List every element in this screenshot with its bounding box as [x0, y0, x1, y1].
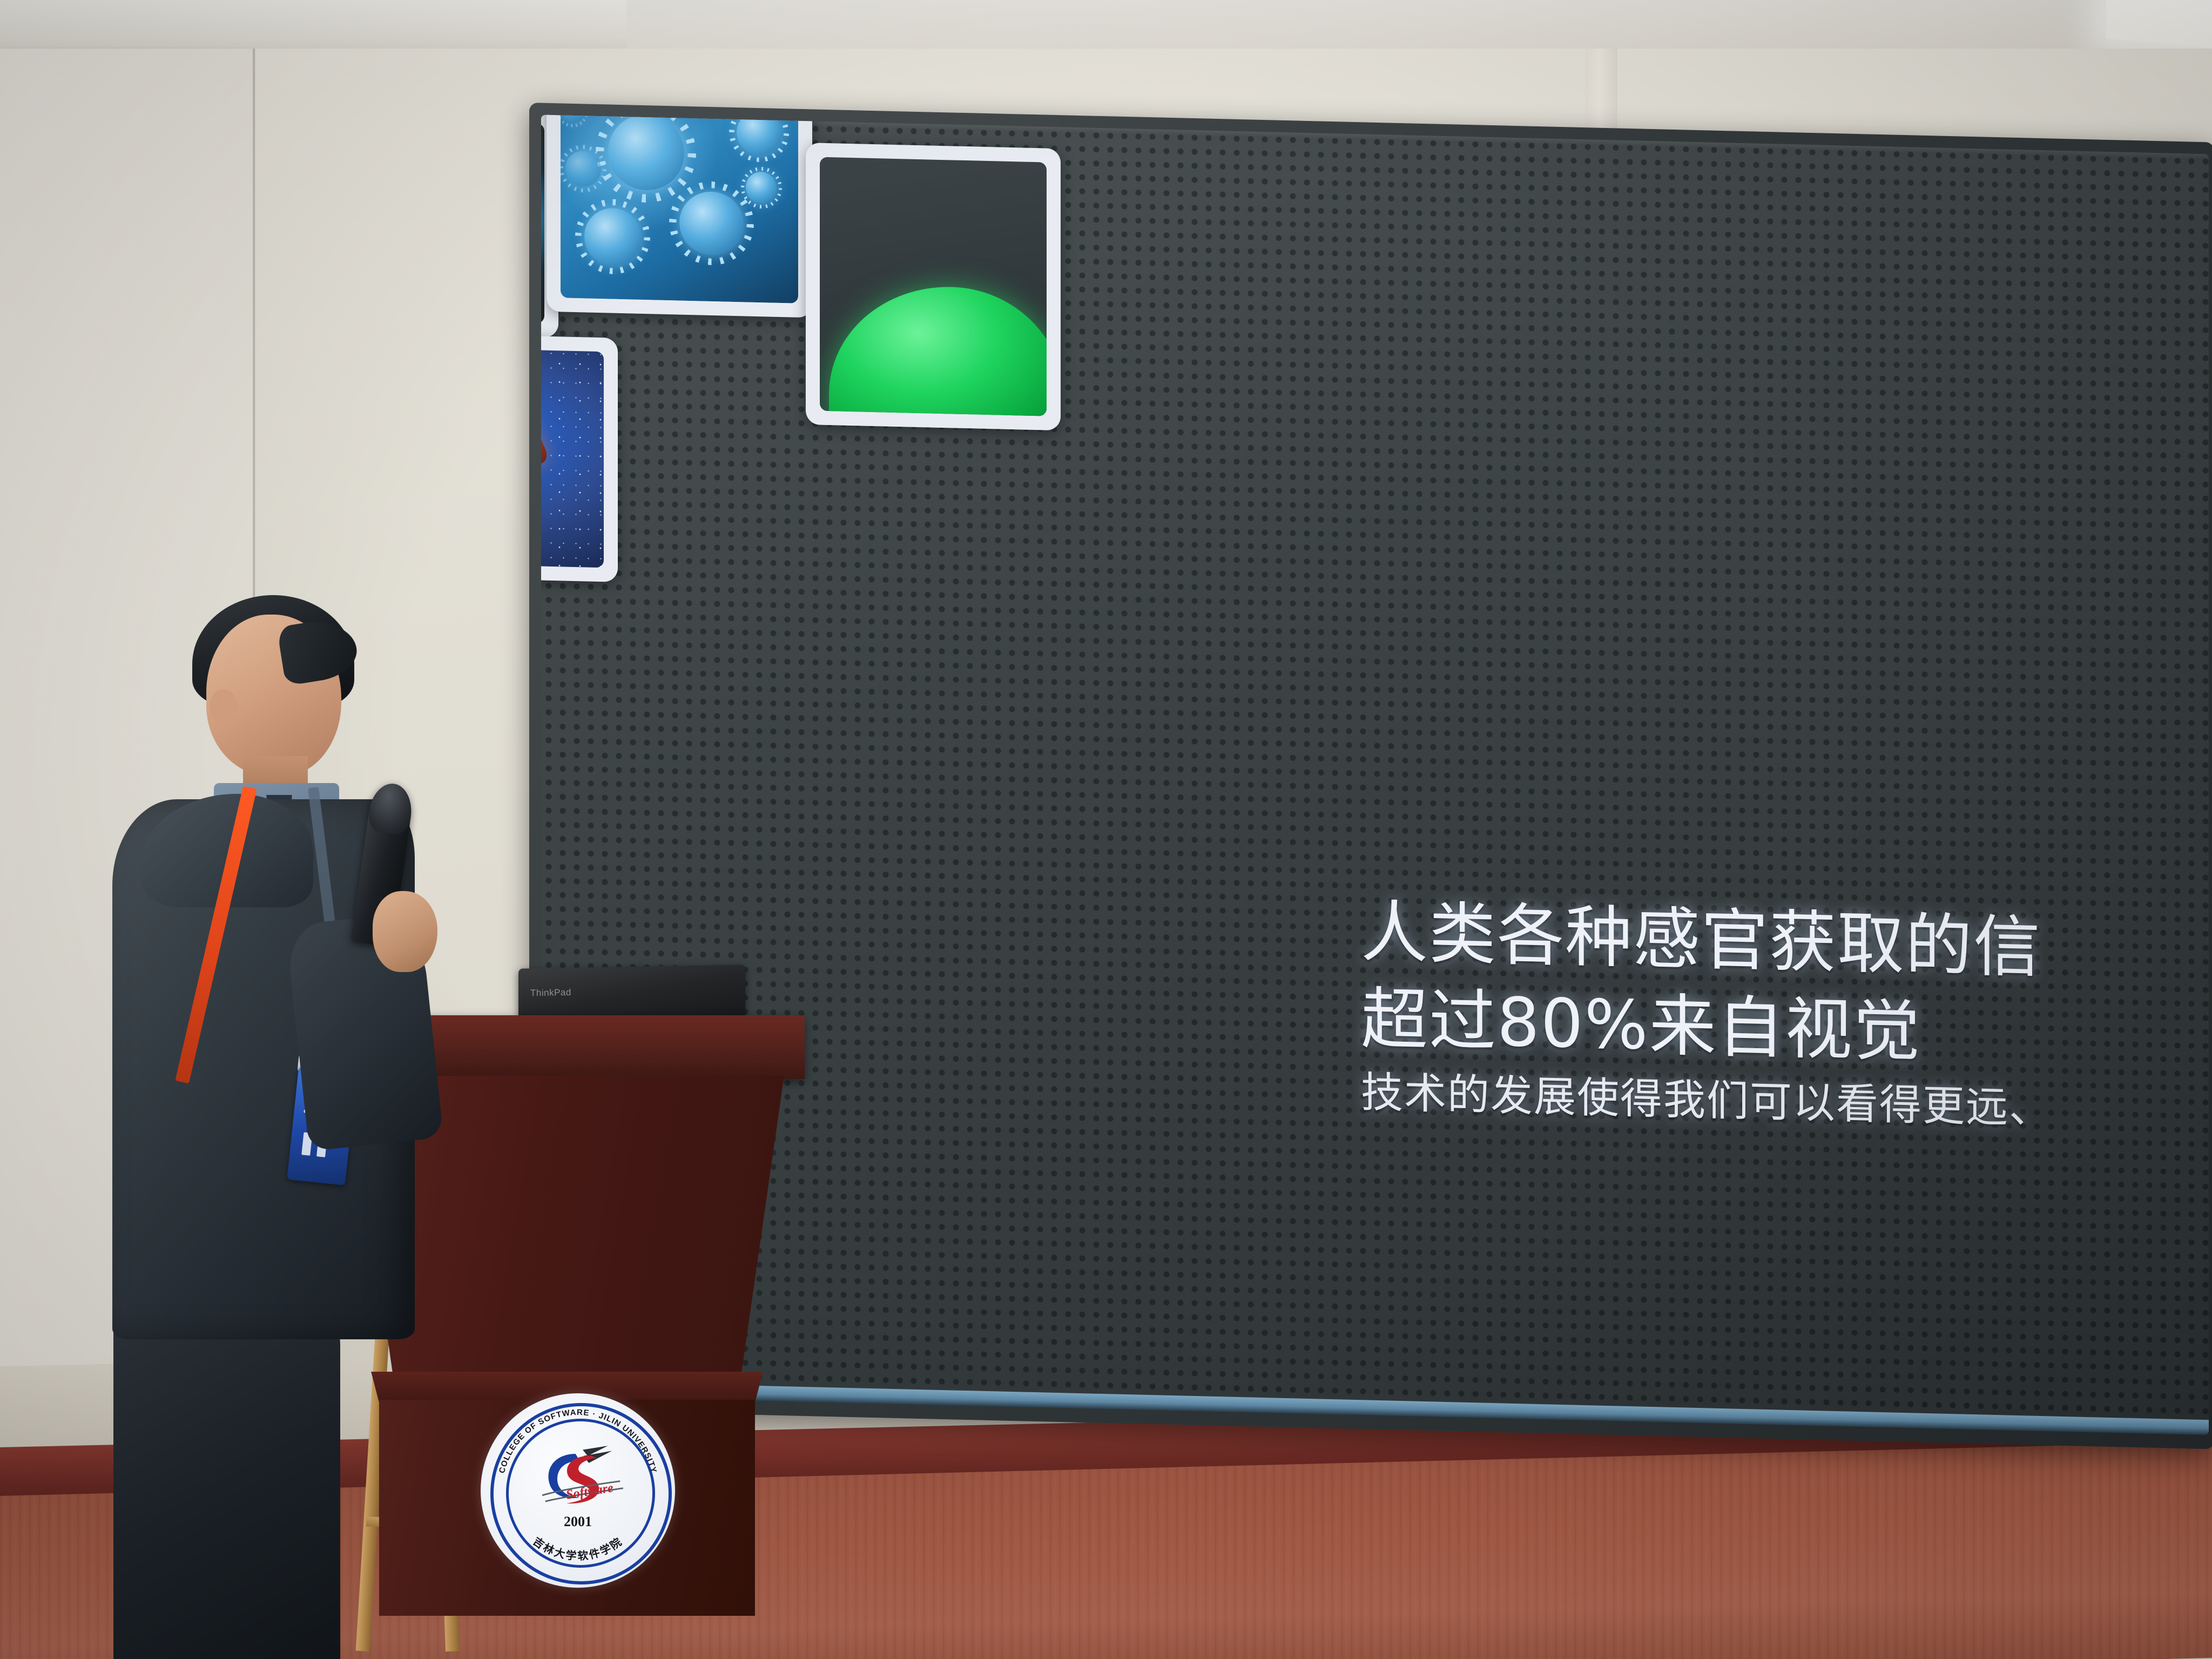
green-subject [829, 284, 1047, 416]
logo-cs-monogram-icon [527, 1440, 628, 1518]
starfield [541, 345, 604, 568]
virus-particle [565, 151, 601, 187]
slide-image-night-vision-green [806, 143, 1061, 430]
logo-chinese-text: 吉林大学软件学院 [530, 1534, 625, 1562]
presenter-hand [373, 891, 437, 972]
logo-chinese-textpath: 吉林大学软件学院 [530, 1534, 625, 1562]
virus-particle [584, 208, 642, 266]
jilin-university-software-college-logo: COLLEGE OF SOFTWARE · JILIN UNIVERSITY 吉… [481, 1393, 675, 1588]
virus-particle [608, 115, 684, 191]
slide-text-block: 人类各种感官获取的信 超过80%来自视觉 技术的发展使得我们可以看得更远、 [1361, 889, 2212, 1143]
slide-image-coronavirus-particles [547, 115, 812, 318]
microphone-head [366, 781, 415, 836]
presenter-legs [113, 1301, 340, 1659]
virus-particle [561, 115, 584, 124]
presenter [81, 583, 481, 1659]
lecture-hall-photo: K K [0, 0, 2212, 1659]
presenter-ear [210, 689, 238, 725]
virus-particle [679, 191, 744, 256]
virus-particle [737, 115, 782, 156]
logo-year: 2001 [481, 1514, 675, 1530]
virus-particle [746, 172, 777, 204]
laptop-brand-label: ThinkPad [530, 987, 571, 999]
slide-image-pillars-of-creation-nebula [541, 330, 618, 582]
